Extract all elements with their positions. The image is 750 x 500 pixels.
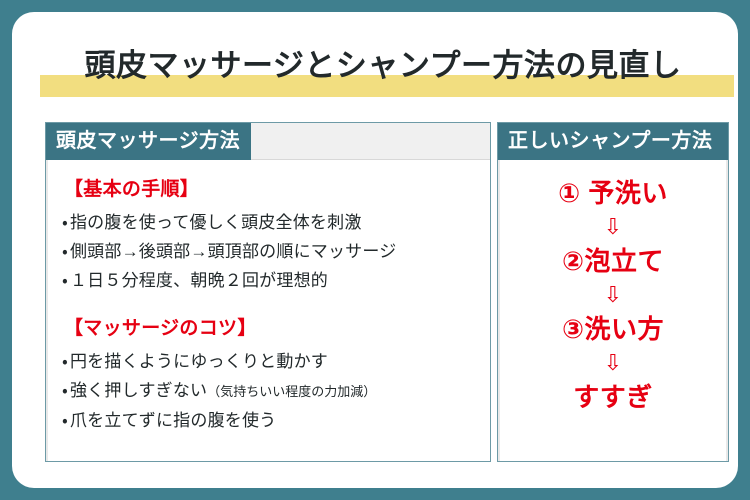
list-item: ・爪を立てずに指の腹を使う — [62, 406, 480, 435]
panel-right-title: 正しいシャンプー方法 — [498, 123, 728, 160]
flow-step-1: ① 予洗い — [506, 176, 720, 210]
down-arrow-icon: ⇩ — [506, 348, 720, 378]
list-item-text: １日５分程度、朝晩２回が理想的 — [70, 271, 328, 290]
page-title: 頭皮マッサージとシャンプー方法の見直し — [28, 38, 738, 94]
list-item: ・側頭部→後頭部→頭頂部の順にマッサージ — [62, 237, 480, 266]
shampoo-flow-diagram: ① 予洗い ⇩ ②泡立て ⇩ ③洗い方 ⇩ すすぎ — [506, 170, 720, 414]
section-heading-basic-steps: 【基本の手順】 — [64, 174, 480, 201]
down-arrow-icon: ⇩ — [506, 212, 720, 242]
panel-left-body: 【基本の手順】 ・指の腹を使って優しく頭皮全体を刺激 ・側頭部→後頭部→頭頂部の… — [46, 160, 490, 461]
panel-left-title: 頭皮マッサージ方法 — [46, 123, 251, 160]
bullet-marker: ・ — [62, 271, 68, 290]
content-card: 頭皮マッサージとシャンプー方法の見直し 頭皮マッサージ方法 【基本の手順】 ・指… — [12, 12, 738, 488]
list-item-text: 円を描くようにゆっくりと動かす — [70, 352, 328, 371]
panel-scalp-massage: 頭皮マッサージ方法 【基本の手順】 ・指の腹を使って優しく頭皮全体を刺激 ・側頭… — [45, 122, 491, 462]
list-item: ・１日５分程度、朝晩２回が理想的 — [62, 266, 480, 295]
down-arrow-icon: ⇩ — [506, 280, 720, 310]
panels-container: 頭皮マッサージ方法 【基本の手順】 ・指の腹を使って優しく頭皮全体を刺激 ・側頭… — [45, 122, 729, 462]
list-item: ・円を描くようにゆっくりと動かす — [62, 347, 480, 376]
panel-correct-shampoo: 正しいシャンプー方法 ① 予洗い ⇩ ②泡立て ⇩ ③洗い方 ⇩ すすぎ — [497, 122, 729, 462]
section-heading-massage-tips: 【マッサージのコツ】 — [64, 313, 480, 340]
bullet-marker: ・ — [62, 242, 68, 261]
list-item-text: 側頭部→後頭部→頭頂部の順にマッサージ — [70, 242, 396, 261]
list-item-text: 爪を立てずに指の腹を使う — [70, 411, 276, 430]
bullet-marker: ・ — [62, 352, 68, 371]
infographic-root: 頭皮マッサージとシャンプー方法の見直し 頭皮マッサージ方法 【基本の手順】 ・指… — [0, 0, 750, 500]
bullet-list-basic-steps: ・指の腹を使って優しく頭皮全体を刺激 ・側頭部→後頭部→頭頂部の順にマッサージ … — [62, 208, 480, 295]
list-item-text: 強く押しすぎない — [70, 381, 207, 400]
flow-step-2: ②泡立て — [506, 244, 720, 278]
flow-step-3: ③洗い方 — [506, 312, 720, 346]
panel-right-headerbar: 正しいシャンプー方法 — [498, 123, 728, 160]
page-title-area: 頭皮マッサージとシャンプー方法の見直し — [28, 38, 738, 100]
panel-right-body: ① 予洗い ⇩ ②泡立て ⇩ ③洗い方 ⇩ すすぎ — [498, 160, 728, 461]
list-item-text: 指の腹を使って優しく頭皮全体を刺激 — [70, 213, 362, 232]
panel-left-headerbar: 頭皮マッサージ方法 — [46, 123, 490, 160]
bullet-marker: ・ — [62, 381, 68, 400]
bullet-marker: ・ — [62, 411, 68, 430]
bullet-list-massage-tips: ・円を描くようにゆっくりと動かす ・強く押しすぎない（気持ちいい程度の力加減） … — [62, 347, 480, 435]
list-item: ・指の腹を使って優しく頭皮全体を刺激 — [62, 208, 480, 237]
list-item-note: （気持ちいい程度の力加減） — [207, 384, 376, 399]
list-item: ・強く押しすぎない（気持ちいい程度の力加減） — [62, 376, 480, 406]
bullet-marker: ・ — [62, 213, 68, 232]
flow-step-4: すすぎ — [506, 380, 720, 414]
